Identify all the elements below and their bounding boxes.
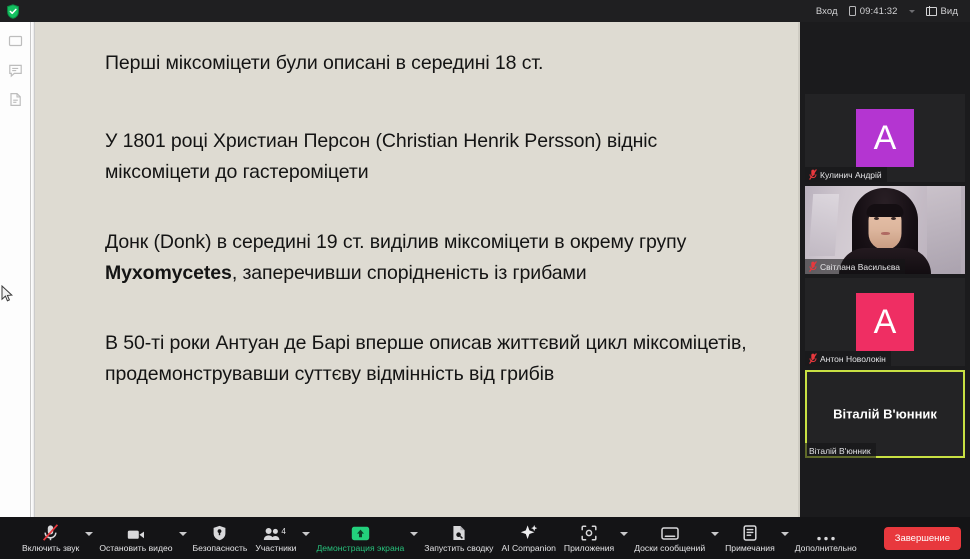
layout-view-icon xyxy=(926,7,937,16)
login-label: Вход xyxy=(816,6,838,17)
video-options-chevron-icon[interactable] xyxy=(179,532,187,536)
top-bar-right-group: Вход 09:41:32 Вид xyxy=(816,6,970,17)
avatar-initial: A xyxy=(874,121,897,155)
slide-paragraph-1: Перші міксоміцети були описані в середин… xyxy=(105,48,748,80)
share-screen-button[interactable]: Демонстрация экрана xyxy=(312,517,408,559)
participant-name: Віталій В'юнник xyxy=(809,446,871,456)
summary-doc-icon xyxy=(452,524,466,541)
participant-name: Світлана Васильєва xyxy=(820,262,900,272)
login-button[interactable]: Вход xyxy=(816,6,838,17)
microphone-muted-icon xyxy=(42,524,59,541)
more-dots-icon xyxy=(816,524,836,541)
zoom-meeting-window: Вход 09:41:32 Вид xyxy=(0,0,970,559)
participant-tile[interactable]: A Кулинич Андрій xyxy=(805,94,965,182)
notes-icon xyxy=(743,524,757,541)
chevron-down-icon[interactable] xyxy=(909,10,915,13)
participant-name-bar: Кулинич Андрій xyxy=(805,167,887,182)
shield-icon xyxy=(212,524,227,541)
apps-icon xyxy=(581,524,597,541)
notes-label: Примечания xyxy=(725,543,775,553)
share-screen-label: Демонстрация экрана xyxy=(316,543,404,553)
participants-filmstrip: A Кулинич Андрій xyxy=(800,22,970,517)
unmute-audio-label: Включить звук xyxy=(22,543,79,553)
stop-video-label: Остановить видео xyxy=(99,543,172,553)
participant-name: Антон Новолокін xyxy=(820,354,886,364)
svg-text:4: 4 xyxy=(281,527,286,536)
microphone-muted-icon xyxy=(809,353,817,364)
share-options-chevron-icon[interactable] xyxy=(410,532,418,536)
video-person-fringe xyxy=(867,204,904,217)
notes-page-icon[interactable] xyxy=(8,92,23,107)
end-meeting-button[interactable]: Завершение xyxy=(884,527,961,550)
view-button[interactable]: Вид xyxy=(926,6,959,17)
whiteboards-label: Доски сообщений xyxy=(634,543,705,553)
timer-icon xyxy=(849,6,856,16)
start-summary-button[interactable]: Запустить сводку xyxy=(420,517,497,559)
apps-options-chevron-icon[interactable] xyxy=(620,532,628,536)
apps-label: Приложения xyxy=(564,543,614,553)
ai-sparkle-icon xyxy=(520,524,538,541)
start-summary-label: Запустить сводку xyxy=(424,543,493,553)
stop-video-button[interactable]: Остановить видео xyxy=(95,517,176,559)
mouse-pointer-icon xyxy=(1,285,14,303)
participant-display-name: Віталій В'юнник xyxy=(805,407,965,422)
microphone-muted-icon xyxy=(809,261,817,272)
participant-tile-active-speaker[interactable]: Віталій В'юнник Віталій В'юнник xyxy=(805,370,965,458)
avatar: A xyxy=(856,293,914,351)
video-person-eye-left xyxy=(874,217,879,220)
whiteboard-icon xyxy=(661,524,679,541)
participant-name-bar: Віталій В'юнник xyxy=(805,443,876,458)
whiteboards-button[interactable]: Доски сообщений xyxy=(630,517,709,559)
slide-thumbnail-icon[interactable] xyxy=(8,34,23,49)
slide-paragraph-3-bold: Myxomycetes xyxy=(105,262,232,284)
meeting-control-toolbar: Включить звук Остановить видео Безопа xyxy=(0,517,970,559)
participant-tile[interactable]: A Антон Новолокін xyxy=(805,278,965,366)
meeting-timer[interactable]: 09:41:32 xyxy=(849,6,898,17)
participants-options-chevron-icon[interactable] xyxy=(302,532,310,536)
participants-icon: 4 xyxy=(263,524,289,541)
whiteboards-options-chevron-icon[interactable] xyxy=(711,532,719,536)
microphone-muted-icon xyxy=(809,169,817,180)
more-label: Дополнительно xyxy=(795,543,857,553)
participant-name-bar: Антон Новолокін xyxy=(805,351,891,366)
notes-options-chevron-icon[interactable] xyxy=(781,532,789,536)
more-button[interactable]: Дополнительно xyxy=(791,517,861,559)
meeting-top-bar: Вход 09:41:32 Вид xyxy=(0,0,970,22)
participant-tile[interactable]: Світлана Васильєва xyxy=(805,186,965,274)
avatar-initial: A xyxy=(874,305,897,339)
unmute-audio-button[interactable]: Включить звук xyxy=(18,517,83,559)
participants-button[interactable]: 4 Участники xyxy=(251,517,300,559)
comment-icon[interactable] xyxy=(8,63,23,78)
security-label: Безопасность xyxy=(193,543,248,553)
audio-options-chevron-icon[interactable] xyxy=(85,532,93,536)
shield-check-icon xyxy=(6,4,20,19)
slide-paragraph-3-post: , заперечивши спорідненість із грибами xyxy=(232,262,587,284)
ai-companion-button[interactable]: AI Companion xyxy=(497,517,559,559)
participant-name-bar: Світлана Васильєва xyxy=(805,259,905,274)
video-person-mouth xyxy=(881,232,890,235)
powerpoint-side-rail xyxy=(0,22,31,517)
notes-button[interactable]: Примечания xyxy=(721,517,779,559)
slide-paragraph-3: Донк (Donk) в середині 19 ст. виділив мі… xyxy=(105,227,748,290)
security-button[interactable]: Безопасность xyxy=(189,517,252,559)
slide-paragraph-4: В 50-ті роки Антуан де Барі вперше описа… xyxy=(105,328,748,391)
security-shield-status[interactable] xyxy=(0,4,26,19)
participants-label: Участники xyxy=(255,543,296,553)
video-camera-icon xyxy=(127,524,145,541)
shared-screen-area[interactable]: Перші міксоміцети були описані в середин… xyxy=(0,22,800,517)
slide-text-body: Перші міксоміцети були описані в середин… xyxy=(35,22,800,391)
avatar: A xyxy=(856,109,914,167)
ai-companion-label: AI Companion xyxy=(501,543,555,553)
participant-name: Кулинич Андрій xyxy=(820,170,882,180)
share-screen-icon xyxy=(351,524,370,541)
slide-paragraph-2: У 1801 році Христиан Персон (Christian H… xyxy=(105,126,748,189)
timer-value: 09:41:32 xyxy=(860,6,898,17)
presentation-slide[interactable]: Перші міксоміцети були описані в середин… xyxy=(35,22,800,517)
view-label: Вид xyxy=(941,6,959,17)
apps-button[interactable]: Приложения xyxy=(560,517,618,559)
video-person-eye-right xyxy=(891,217,896,220)
slide-paragraph-3-pre: Донк (Donk) в середині 19 ст. виділив мі… xyxy=(105,231,686,253)
